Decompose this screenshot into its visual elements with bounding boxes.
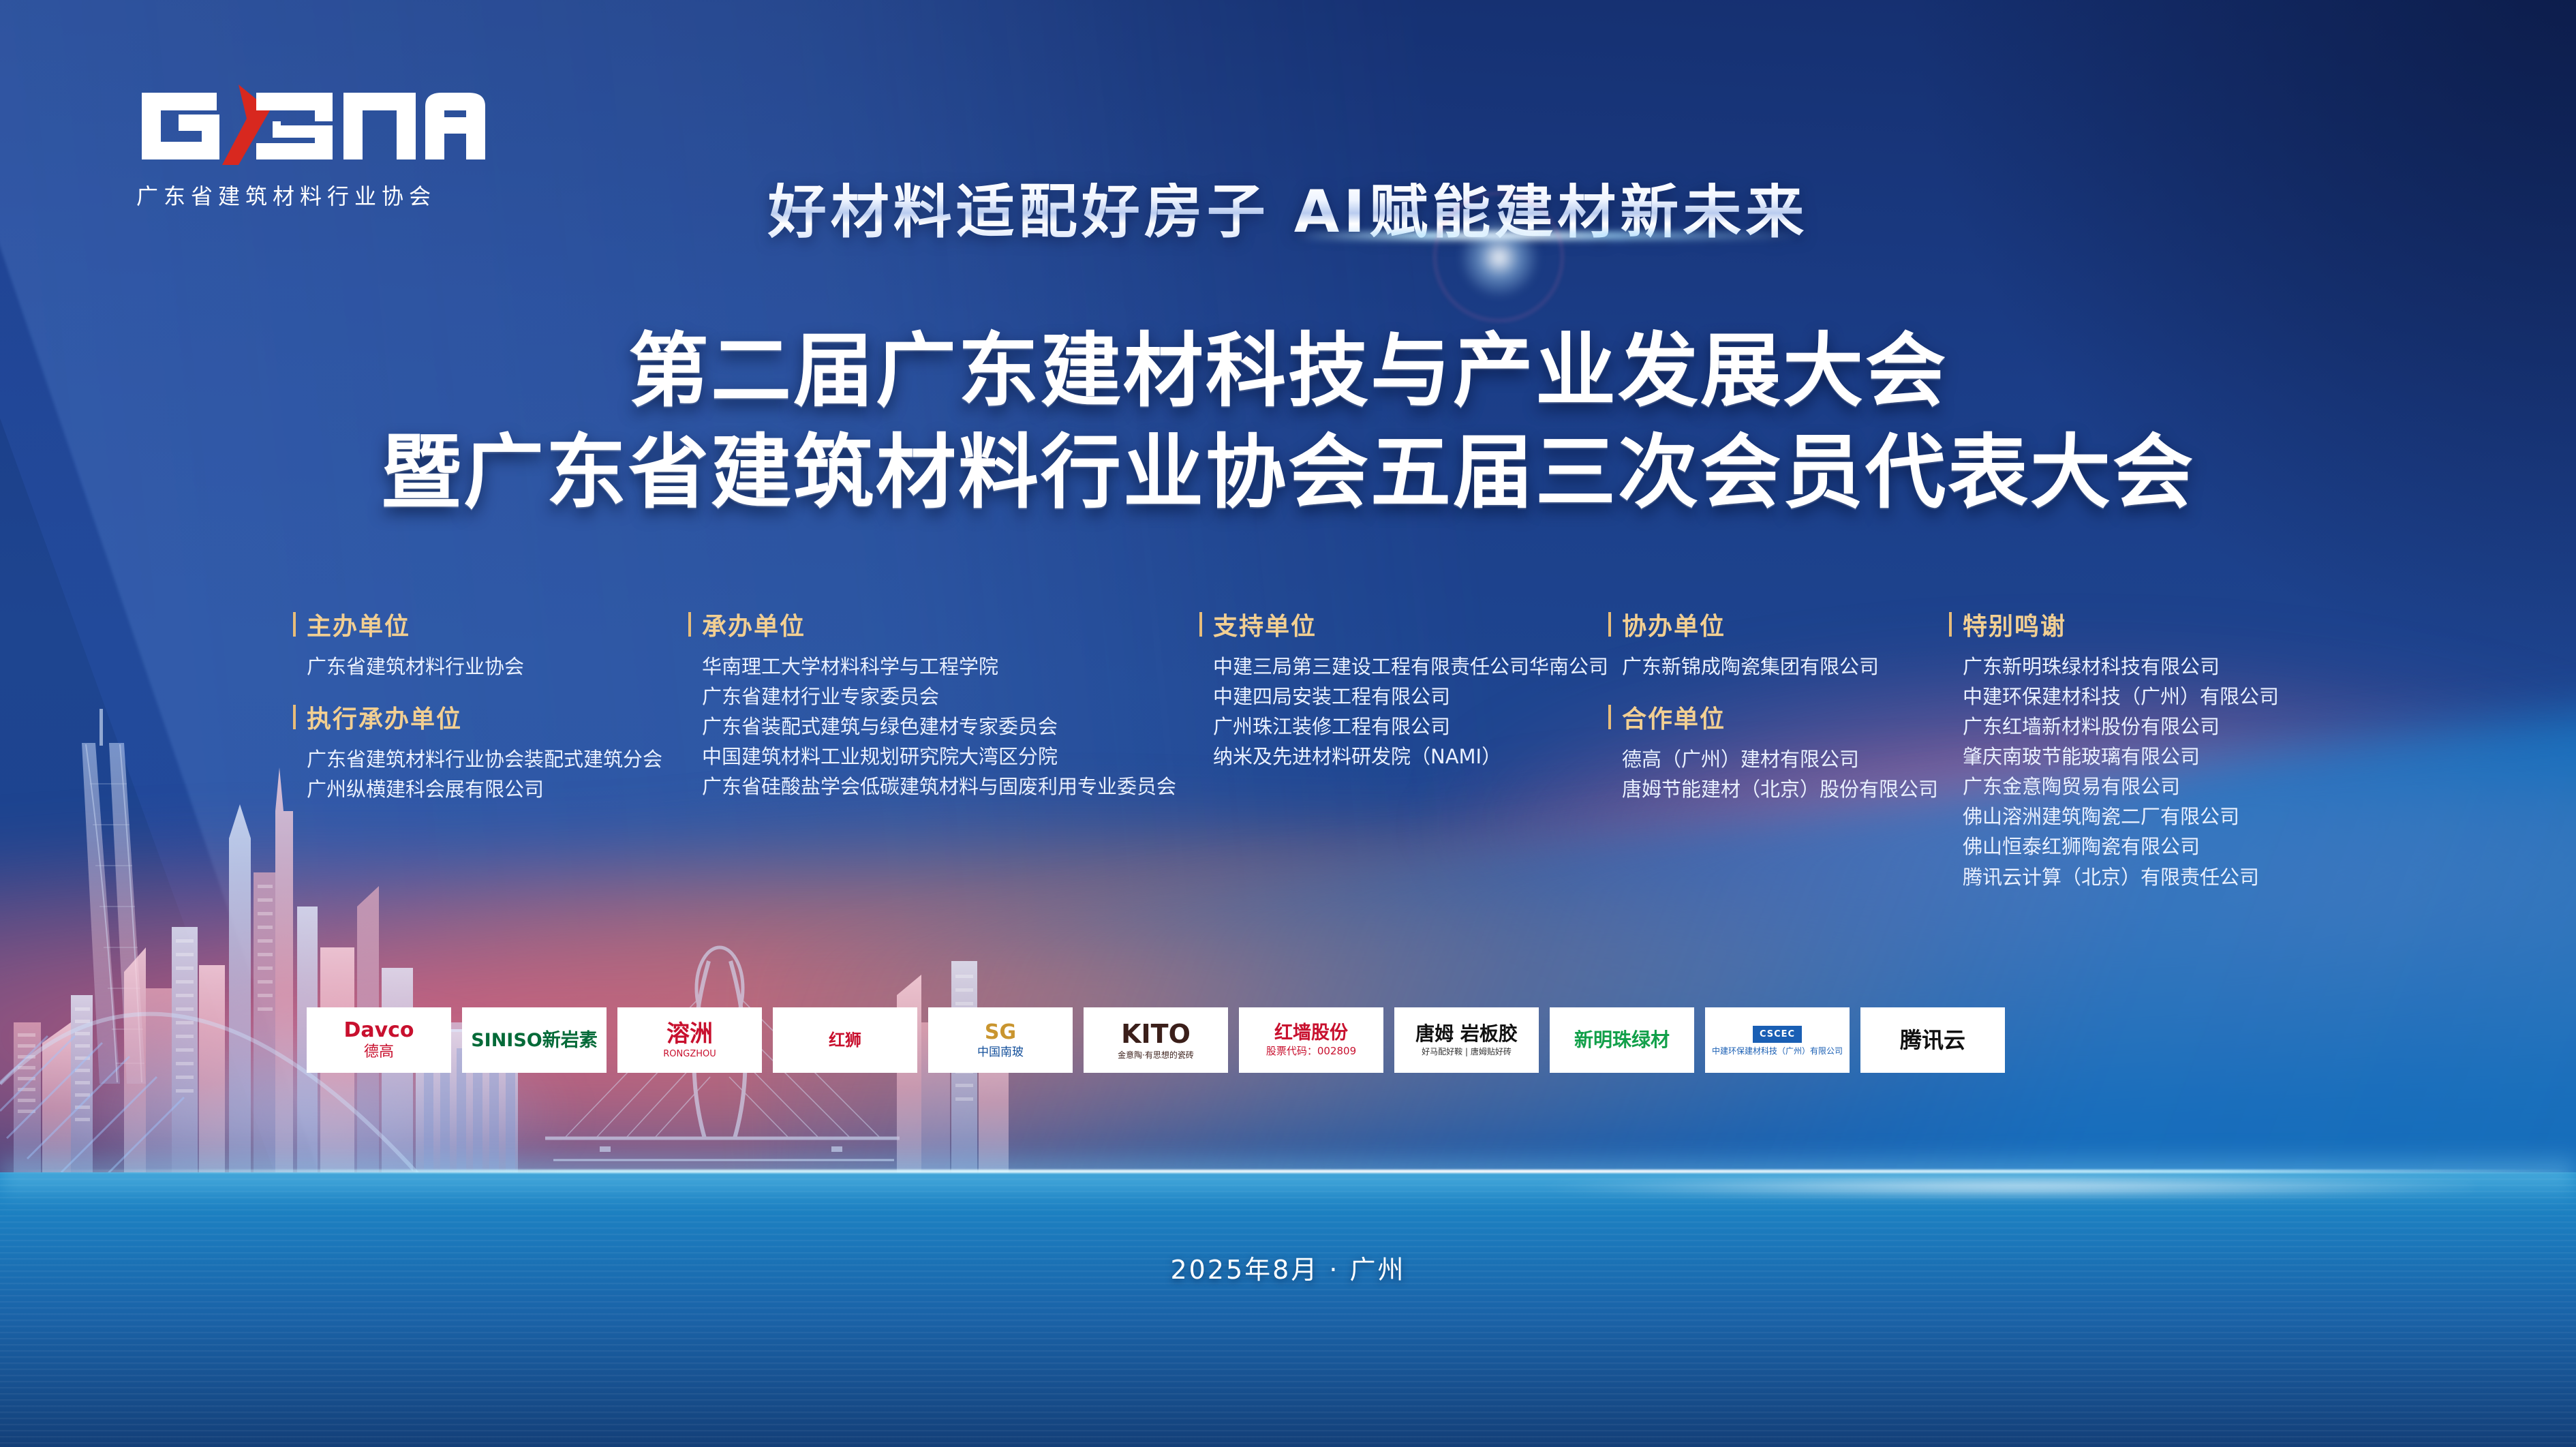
sponsor-logo-tagline: 金意陶·有思想的瓷砖	[1118, 1051, 1194, 1059]
water-surface	[0, 1172, 2576, 1447]
organization-list: 广东省建筑材料行业协会	[293, 652, 662, 682]
organization-list-item: 广东红墙新材料股份有限公司	[1963, 712, 2279, 742]
hongshi-logo: 红狮	[773, 1007, 917, 1073]
organization-list-item: 广东金意陶贸易有限公司	[1963, 772, 2279, 802]
organization-list-item: 佛山恒泰红狮陶瓷有限公司	[1963, 832, 2279, 862]
organization-list-item: 中建环保建材科技（广州）有限公司	[1963, 682, 2279, 712]
sponsor-logo-tagline: 中建环保建材科技（广州）有限公司	[1712, 1047, 1843, 1055]
cscec-logo: CSCEC中建环保建材科技（广州）有限公司	[1705, 1007, 1850, 1073]
organization-section-title: 协办单位	[1622, 607, 1726, 642]
sponsor-logo-name: 溶洲	[666, 1022, 713, 1046]
xinmingzhu-logo: 新明珠绿材	[1550, 1007, 1694, 1073]
sponsor-logo-name: 红墙股份	[1274, 1024, 1348, 1042]
sponsor-logo-content: 新明珠绿材	[1574, 1031, 1670, 1050]
organization-section: 主办单位广东省建筑材料行业协会	[293, 607, 662, 682]
organization-section: 支持单位中建三局第三建设工程有限责任公司华南公司中建四局安装工程有限公司广州珠江…	[1199, 607, 1608, 772]
organizations-column: 支持单位中建三局第三建设工程有限责任公司华南公司中建四局安装工程有限公司广州珠江…	[1199, 607, 1608, 789]
conference-banner: 广东省建筑材料行业协会 好材料适配好房子 AI赋能建材新未来 第二届广东建材科技…	[0, 0, 2576, 1447]
organization-list-item: 佛山溶洲建筑陶瓷二厂有限公司	[1963, 802, 2279, 832]
organization-list-item: 腾讯云计算（北京）有限责任公司	[1963, 862, 2279, 892]
organization-list-item: 广东省装配式建筑与绿色建材专家委员会	[702, 712, 1176, 742]
horizon-line	[0, 1170, 2576, 1173]
organization-list: 德高（广州）建材有限公司唐姆节能建材（北京）股份有限公司	[1608, 744, 1938, 804]
organization-section: 承办单位华南理工大学材料科学与工程学院广东省建材行业专家委员会广东省装配式建筑与…	[688, 607, 1176, 802]
sponsor-logo-tagline: 股票代码：002809	[1266, 1046, 1356, 1056]
event-date-location: 2025年8月 · 广州	[0, 1249, 2576, 1286]
kito-logo: KITO金意陶·有思想的瓷砖	[1084, 1007, 1228, 1073]
sponsor-logo-content: SINISO新岩素	[471, 1031, 598, 1050]
sponsor-logo-strip: Davco德高SINISO新岩素溶洲RONGZHOU红狮SG中国南玻KITO金意…	[307, 1007, 2005, 1073]
sponsor-logo-content: 红狮	[829, 1032, 861, 1048]
organization-list-item: 广州珠江装修工程有限公司	[1213, 712, 1608, 742]
sponsor-logo-tagline: 中国南玻	[977, 1047, 1024, 1058]
organization-section: 协办单位广东新锦成陶瓷集团有限公司	[1608, 607, 1938, 682]
sponsor-logo-name: Davco	[343, 1020, 414, 1041]
organization-section-title: 特别鸣谢	[1963, 607, 2066, 642]
sponsor-logo-content: SG中国南玻	[977, 1022, 1024, 1058]
organization-list-item: 广东省建筑材料行业协会	[307, 652, 662, 682]
organization-section-header: 合作单位	[1608, 699, 1938, 735]
tangmu-logo: 唐姆 岩板胶好马配好鞍 | 唐姆贴好砖	[1394, 1007, 1539, 1073]
sponsor-logo-content: Davco德高	[343, 1020, 414, 1060]
organization-section: 合作单位德高（广州）建材有限公司唐姆节能建材（北京）股份有限公司	[1608, 699, 1938, 804]
organization-list-item: 广东省建材行业专家委员会	[702, 682, 1176, 712]
organization-section-title: 主办单位	[307, 607, 410, 642]
rongzhou-logo: 溶洲RONGZHOU	[617, 1007, 762, 1073]
sponsor-logo-name: 唐姆 岩板胶	[1415, 1024, 1518, 1044]
sponsor-logo-content: 腾讯云	[1900, 1029, 1965, 1051]
organization-list: 华南理工大学材料科学与工程学院广东省建材行业专家委员会广东省装配式建筑与绿色建材…	[688, 652, 1176, 802]
sponsor-logo-name: SG	[985, 1022, 1016, 1043]
organization-list-item: 德高（广州）建材有限公司	[1622, 744, 1938, 774]
organization-list-item: 中建三局第三建设工程有限责任公司华南公司	[1213, 652, 1608, 682]
water-sheen	[1340, 1175, 2473, 1204]
sponsor-logo-tagline: 德高	[364, 1045, 394, 1060]
organization-list-item: 广东新锦成陶瓷集团有限公司	[1622, 652, 1938, 682]
organization-list-item: 广东省硅酸盐学会低碳建筑材料与固废利用专业委员会	[702, 772, 1176, 802]
event-title-line-1: 第二届广东建材科技与产业发展大会	[0, 320, 2576, 422]
organization-list-item: 广东新明珠绿材科技有限公司	[1963, 652, 2279, 682]
organization-list: 广东新明珠绿材科技有限公司中建环保建材科技（广州）有限公司广东红墙新材料股份有限…	[1949, 652, 2279, 892]
organization-section: 执行承办单位广东省建筑材料行业协会装配式建筑分会广州纵横建科会展有限公司	[293, 699, 662, 804]
section-accent-bar	[293, 705, 296, 729]
sponsor-logo-name: KITO	[1121, 1021, 1191, 1047]
siniso-logo: SINISO新岩素	[462, 1007, 607, 1073]
organization-list-item: 肇庆南玻节能玻璃有限公司	[1963, 742, 2279, 772]
section-accent-bar	[1199, 612, 1202, 637]
sponsor-logo-name: 腾讯云	[1900, 1029, 1965, 1051]
sponsor-logo-content: 红墙股份股票代码：002809	[1266, 1024, 1356, 1056]
organization-section-title: 承办单位	[702, 607, 806, 642]
organization-section-header: 执行承办单位	[293, 699, 662, 735]
organization-list-item: 唐姆节能建材（北京）股份有限公司	[1622, 774, 1938, 804]
sponsor-logo-content: 溶洲RONGZHOU	[663, 1022, 716, 1058]
organization-list-item: 广州纵横建科会展有限公司	[307, 774, 662, 804]
organization-section-header: 主办单位	[293, 607, 662, 642]
section-accent-bar	[293, 612, 296, 637]
organization-list-item: 中国建筑材料工业规划研究院大湾区分院	[702, 742, 1176, 772]
organizations-column: 承办单位华南理工大学材料科学与工程学院广东省建材行业专家委员会广东省装配式建筑与…	[688, 607, 1176, 819]
organizations-column: 特别鸣谢广东新明珠绿材科技有限公司中建环保建材科技（广州）有限公司广东红墙新材料…	[1949, 607, 2279, 910]
tencentcloud-logo: 腾讯云	[1860, 1007, 2005, 1073]
sponsor-logo-content: KITO金意陶·有思想的瓷砖	[1118, 1021, 1194, 1059]
event-title-line-2: 暨广东省建筑材料行业协会五届三次会员代表大会	[0, 422, 2576, 523]
organization-section-header: 承办单位	[688, 607, 1176, 642]
event-tagline: 好材料适配好房子 AI赋能建材新未来	[0, 183, 2576, 241]
organization-list-item: 广东省建筑材料行业协会装配式建筑分会	[307, 744, 662, 774]
organization-list: 广东新锦成陶瓷集团有限公司	[1608, 652, 1938, 682]
section-accent-bar	[1608, 612, 1611, 637]
sponsor-logo-name: 红狮	[829, 1032, 861, 1048]
gbma-logo-icon	[136, 83, 491, 168]
section-accent-bar	[1608, 705, 1611, 729]
sponsor-logo-name: CSCEC	[1753, 1026, 1802, 1043]
sponsor-logo-name: 新明珠绿材	[1574, 1031, 1670, 1050]
sponsor-logo-content: 唐姆 岩板胶好马配好鞍 | 唐姆贴好砖	[1415, 1024, 1518, 1056]
sponsor-logo-content: CSCEC中建环保建材科技（广州）有限公司	[1712, 1026, 1843, 1055]
organization-list-item: 华南理工大学材料科学与工程学院	[702, 652, 1176, 682]
sponsor-logo-tagline: RONGZHOU	[663, 1050, 716, 1058]
organization-list: 中建三局第三建设工程有限责任公司华南公司中建四局安装工程有限公司广州珠江装修工程…	[1199, 652, 1608, 772]
organization-list-item: 纳米及先进材料研发院（NAMI）	[1213, 742, 1608, 772]
davco-logo: Davco德高	[307, 1007, 451, 1073]
organization-list: 广东省建筑材料行业协会装配式建筑分会广州纵横建科会展有限公司	[293, 744, 662, 804]
organization-list-item: 中建四局安装工程有限公司	[1213, 682, 1608, 712]
sponsor-logo-name: SINISO新岩素	[471, 1031, 598, 1050]
event-title: 第二届广东建材科技与产业发展大会 暨广东省建筑材料行业协会五届三次会员代表大会	[0, 320, 2576, 523]
organizations-column: 主办单位广东省建筑材料行业协会执行承办单位广东省建筑材料行业协会装配式建筑分会广…	[293, 607, 662, 822]
organizations-columns: 主办单位广东省建筑材料行业协会执行承办单位广东省建筑材料行业协会装配式建筑分会广…	[0, 607, 2576, 893]
section-accent-bar	[1949, 612, 1952, 637]
csg-logo: SG中国南玻	[928, 1007, 1073, 1073]
lens-flare-core	[1458, 217, 1540, 299]
organization-section-header: 协办单位	[1608, 607, 1938, 642]
organization-section: 特别鸣谢广东新明珠绿材科技有限公司中建环保建材科技（广州）有限公司广东红墙新材料…	[1949, 607, 2279, 892]
redwall-logo: 红墙股份股票代码：002809	[1239, 1007, 1383, 1073]
section-accent-bar	[688, 612, 691, 637]
organization-section-title: 执行承办单位	[307, 699, 462, 735]
organization-section-title: 支持单位	[1213, 607, 1317, 642]
organization-section-title: 合作单位	[1622, 699, 1726, 735]
organizations-column: 协办单位广东新锦成陶瓷集团有限公司合作单位德高（广州）建材有限公司唐姆节能建材（…	[1608, 607, 1938, 822]
organization-section-header: 支持单位	[1199, 607, 1608, 642]
sponsor-logo-tagline: 好马配好鞍 | 唐姆贴好砖	[1422, 1048, 1512, 1056]
organization-section-header: 特别鸣谢	[1949, 607, 2279, 642]
